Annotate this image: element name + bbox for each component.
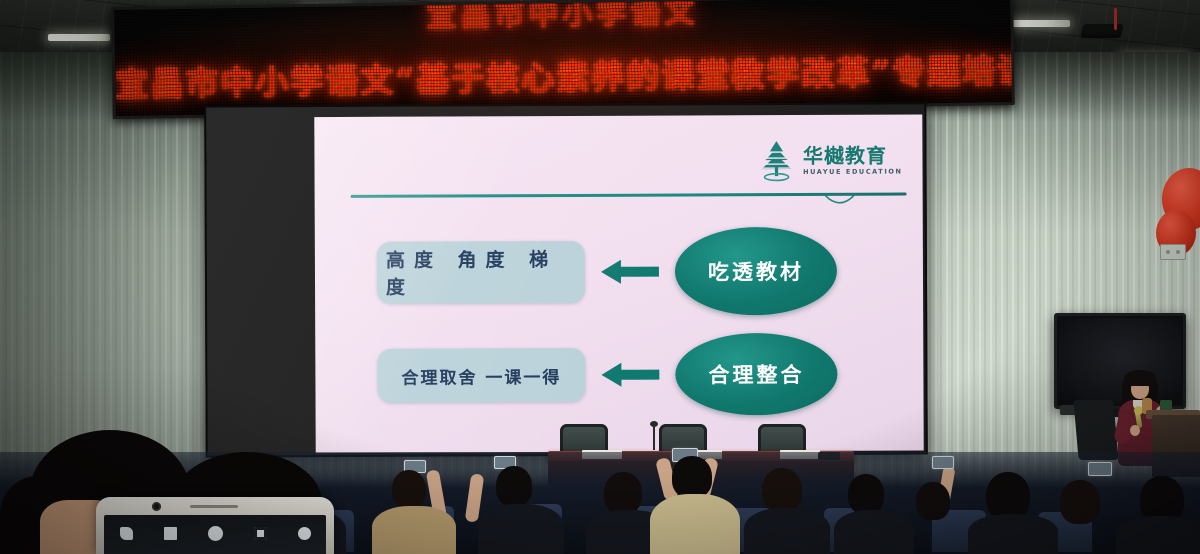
led-banner-top-row: 宜昌市中小学语文: [114, 0, 1011, 40]
arrow-left-icon: [601, 360, 659, 390]
projection-screen: 华樾教育 HUAYUE EDUCATION 高度 角度 梯度 吃透教材 合理取舍…: [204, 102, 928, 457]
raised-phone: [1088, 462, 1112, 476]
slide-oval: 吃透教材: [675, 227, 837, 316]
led-banner-frame: 宜昌市中小学语文 宜昌市中小学语文“基于核心素养的课堂教学改革”专题培训: [111, 0, 1015, 119]
audience-head: [392, 470, 426, 508]
audience-shoulders: [834, 510, 914, 554]
presenter-hand-left: [1130, 425, 1140, 436]
raised-phone: [932, 456, 954, 469]
table-microphone-stem: [653, 424, 655, 450]
presentation-slide: 华樾教育 HUAYUE EDUCATION 高度 角度 梯度 吃透教材 合理取舍…: [314, 114, 923, 453]
speaker-mount-rod: [1114, 8, 1117, 30]
slide-row: 高度 角度 梯度 吃透教材: [377, 227, 837, 317]
audience-head: [1060, 480, 1100, 524]
phone-bezel: [96, 497, 334, 515]
scene-root: 宜昌市中小学语文 宜昌市中小学语文“基于核心素养的课堂教学改革”专题培训: [0, 0, 1200, 554]
audience-head: [604, 472, 642, 514]
led-banner-text: 宜昌市中小学语文“基于核心素养的课堂教学改革”专题培训: [115, 44, 1012, 106]
ceiling-speaker: [1081, 24, 1124, 38]
audience-shoulders: [478, 504, 564, 554]
brand-name-cn: 华樾教育: [803, 146, 903, 166]
audience-shoulders: [650, 494, 740, 554]
brand-logo-text: 华樾教育 HUAYUE EDUCATION: [803, 146, 903, 176]
audience-head: [762, 468, 802, 512]
audience-shoulders: [744, 508, 830, 554]
slide-divider-line: [351, 193, 907, 198]
switch-camera-icon[interactable]: [254, 527, 267, 540]
audience-shoulders: [1116, 516, 1200, 554]
pine-tree-icon: [756, 139, 796, 183]
ceiling-light: [48, 34, 110, 41]
arrow-left-icon: [601, 257, 659, 287]
audience-head: [986, 472, 1030, 520]
front-camera-icon: [152, 502, 161, 511]
audience-head: [496, 466, 532, 506]
phone-screen[interactable]: [104, 515, 326, 554]
brand-name-en: HUAYUE EDUCATION: [803, 169, 902, 176]
shutter-icon[interactable]: [208, 526, 223, 541]
slide-pill: 高度 角度 梯度: [377, 241, 585, 304]
audience-head: [672, 456, 712, 498]
earpiece-speaker: [190, 505, 238, 508]
audience-shoulders: [968, 514, 1058, 554]
audience-shoulders: [372, 506, 456, 554]
slide-pill: 合理取舍 一课一得: [377, 348, 585, 403]
led-banner: 宜昌市中小学语文 宜昌市中小学语文“基于核心素养的课堂教学改革”专题培训: [111, 0, 1015, 119]
brand-logo: 华樾教育 HUAYUE EDUCATION: [756, 139, 903, 184]
audience-head: [848, 474, 884, 514]
slide-divider-tick: [825, 195, 855, 209]
smartphone-camera-ui[interactable]: [96, 497, 334, 554]
ceiling-light: [1010, 20, 1070, 27]
audience-head: [916, 482, 950, 520]
mode-icon[interactable]: [298, 527, 311, 540]
settings-icon[interactable]: [164, 527, 177, 540]
camera-control-bar[interactable]: [104, 523, 326, 543]
slide-row: 合理取舍 一课一得 合理整合: [377, 333, 837, 417]
flash-icon[interactable]: [120, 527, 133, 540]
wall-outlet-plate: [1160, 244, 1186, 260]
slide-oval: 合理整合: [675, 333, 837, 416]
